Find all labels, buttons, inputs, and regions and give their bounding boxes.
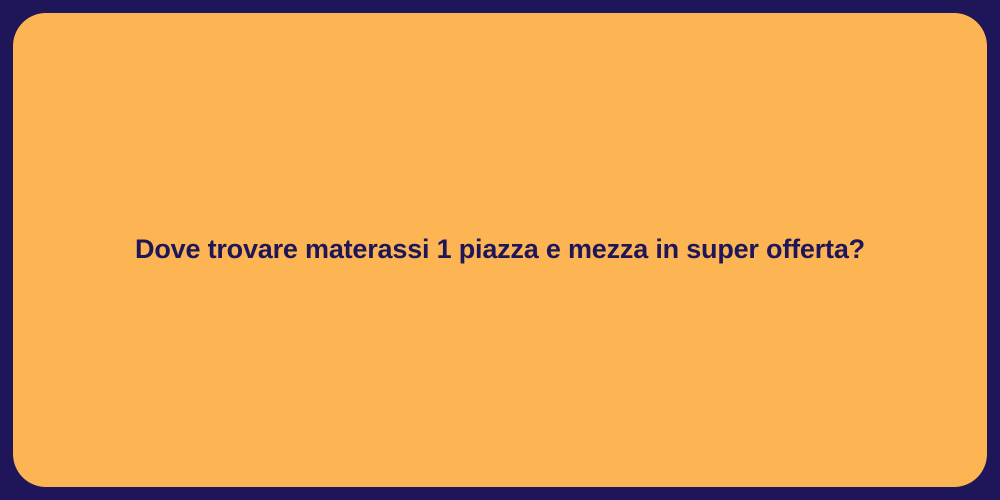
banner-card: Dove trovare materassi 1 piazza e mezza … [13, 13, 987, 487]
banner-frame: Dove trovare materassi 1 piazza e mezza … [0, 0, 1000, 500]
banner-headline: Dove trovare materassi 1 piazza e mezza … [75, 233, 925, 267]
